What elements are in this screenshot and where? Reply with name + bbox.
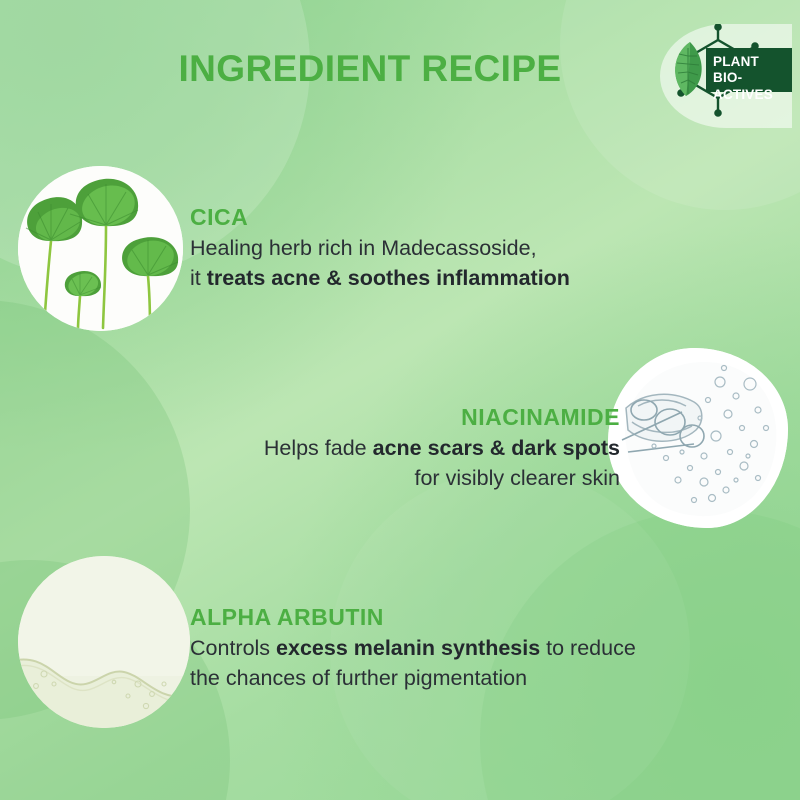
ingredient-recipe-poster: INGREDIENT RECIPE <box>0 0 800 800</box>
cica-heading: CICA <box>190 204 690 231</box>
description-line: Helps fade acne scars & dark spots <box>150 433 620 463</box>
cica-image <box>18 166 183 331</box>
alpha-arbutin-heading: ALPHA ARBUTIN <box>190 604 750 631</box>
niacinamide-heading: NIACINAMIDE <box>150 404 620 431</box>
niacinamide-image <box>608 348 788 528</box>
page-title: INGREDIENT RECIPE <box>0 48 740 90</box>
plain-text: Helps fade <box>264 436 373 460</box>
niacinamide-description: Helps fade acne scars & dark spotsfor vi… <box>150 433 620 493</box>
emphasis-text: acne scars & dark spots <box>373 436 620 460</box>
badge-line-2: BIO-ACTIVES <box>713 70 799 103</box>
niacinamide-text-block: NIACINAMIDE Helps fade acne scars & dark… <box>150 404 620 493</box>
cream-serum-wave-icon <box>18 556 190 728</box>
description-line: for visibly clearer skin <box>150 463 620 493</box>
description-line: the chances of further pigmentation <box>190 663 750 693</box>
plain-text: for visibly clearer skin <box>415 466 621 490</box>
plain-text: Healing herb rich in Madecassoside, <box>190 236 537 260</box>
plain-text: to reduce <box>540 636 636 660</box>
alpha-arbutin-description: Controls excess melanin synthesis to red… <box>190 633 750 693</box>
badge-line-1: PLANT <box>713 54 799 70</box>
alpha-arbutin-image <box>18 556 190 728</box>
badge-text: PLANT BIO-ACTIVES <box>713 54 799 103</box>
plant-bio-actives-badge: PLANT BIO-ACTIVES <box>660 24 792 128</box>
emphasis-text: excess melanin synthesis <box>276 636 540 660</box>
plain-text: it <box>190 266 207 290</box>
plain-text: the chances of further pigmentation <box>190 666 527 690</box>
leaf-icon <box>675 42 702 96</box>
cica-description: Healing herb rich in Madecassoside,it tr… <box>190 233 690 293</box>
description-line: Healing herb rich in Madecassoside, <box>190 233 690 263</box>
plain-text: Controls <box>190 636 276 660</box>
description-line: it treats acne & soothes inflammation <box>190 263 690 293</box>
description-line: Controls excess melanin synthesis to red… <box>190 633 750 663</box>
alpha-arbutin-text-block: ALPHA ARBUTIN Controls excess melanin sy… <box>190 604 750 693</box>
cica-text-block: CICA Healing herb rich in Madecassoside,… <box>190 204 690 293</box>
emphasis-text: treats acne & soothes inflammation <box>207 266 570 290</box>
